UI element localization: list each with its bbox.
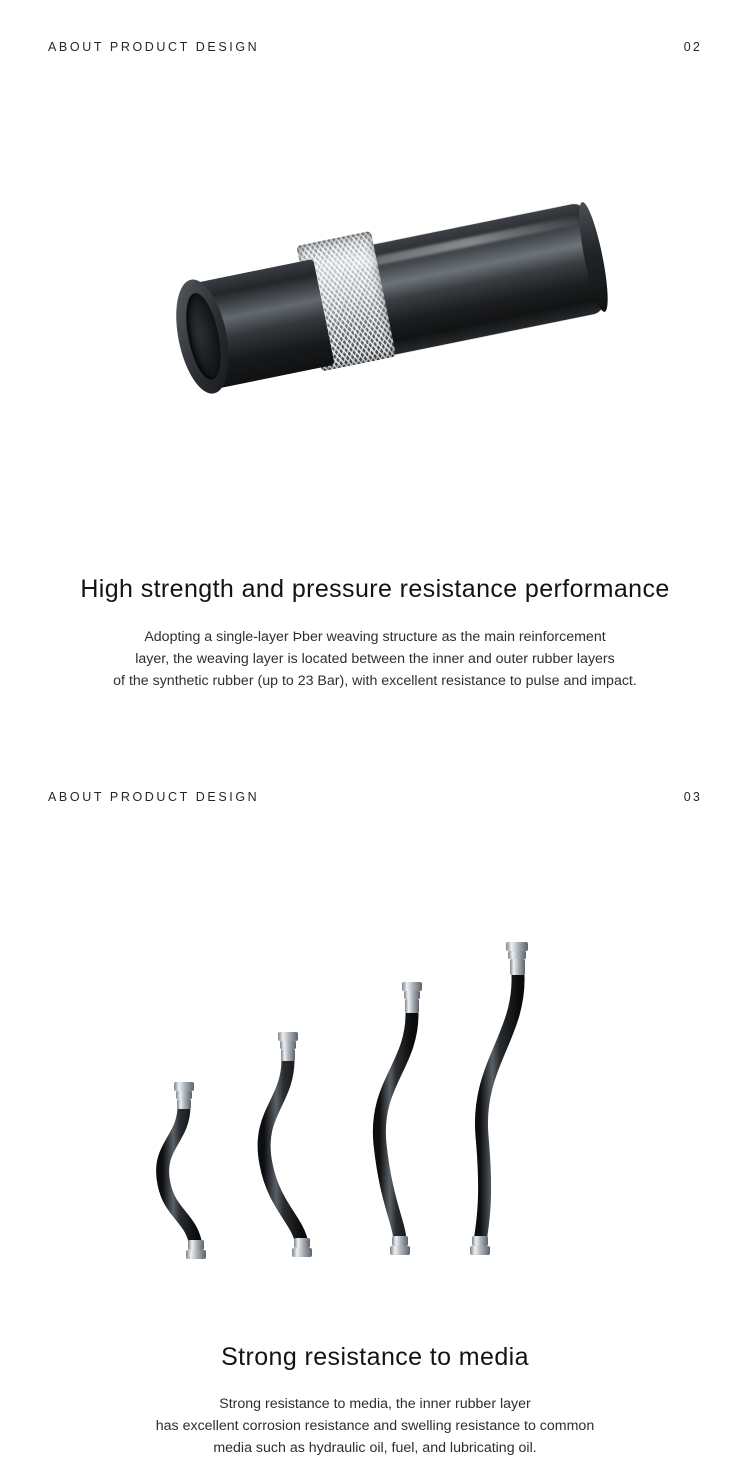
headline-1-text: High strength and pressure resistance pe…	[80, 575, 669, 603]
eyebrow-label-1: ABOUT PRODUCT DESIGN	[48, 40, 259, 54]
body-copy-2: Strong resistance to media, the inner ru…	[0, 1393, 750, 1459]
body-line: has excellent corrosion resistance and s…	[0, 1415, 750, 1437]
fitting-top	[506, 942, 528, 975]
eyebrow-label-2: ABOUT PRODUCT DESIGN	[48, 790, 259, 804]
headline-1: High strength and pressure resistance pe…	[0, 575, 750, 604]
body-line: layer, the weaving layer is located betw…	[0, 648, 750, 670]
hose-assembly-4	[452, 940, 592, 1260]
body-line: of the synthetic rubber (up to 23 Bar), …	[0, 670, 750, 692]
section-header-2: ABOUT PRODUCT DESIGN 03	[0, 790, 750, 812]
fitting-bottom	[390, 1236, 410, 1255]
hose-tube	[264, 1060, 302, 1244]
body-line: Adopting a single-layer Þber weaving str…	[0, 626, 750, 648]
section-header-1: ABOUT PRODUCT DESIGN 02	[0, 40, 750, 62]
fitting-top	[174, 1082, 194, 1109]
hose-tube	[379, 1014, 412, 1242]
fitting-bottom	[186, 1240, 206, 1259]
body-line: Strong resistance to media, the inner ru…	[0, 1393, 750, 1415]
body-line: media such as hydraulic oil, fuel, and l…	[0, 1437, 750, 1459]
hose-tube	[480, 976, 518, 1242]
page-number-1: 02	[684, 40, 702, 54]
fitting-bottom	[470, 1236, 490, 1255]
product-image-hose-assemblies	[0, 840, 750, 1310]
page-number-2: 03	[684, 790, 702, 804]
fitting-bottom	[292, 1238, 312, 1257]
product-image-straight-hose	[0, 90, 750, 550]
fitting-top	[402, 982, 422, 1013]
hose-assembly-2	[252, 1030, 372, 1260]
headline-2-text: Strong resistance to media	[221, 1343, 529, 1371]
body-copy-1: Adopting a single-layer Þber weaving str…	[0, 626, 750, 692]
fitting-top	[278, 1032, 298, 1061]
hose-cutaway-illustration	[177, 170, 617, 438]
headline-2: Strong resistance to media	[0, 1343, 750, 1372]
hose-tube	[163, 1106, 196, 1246]
